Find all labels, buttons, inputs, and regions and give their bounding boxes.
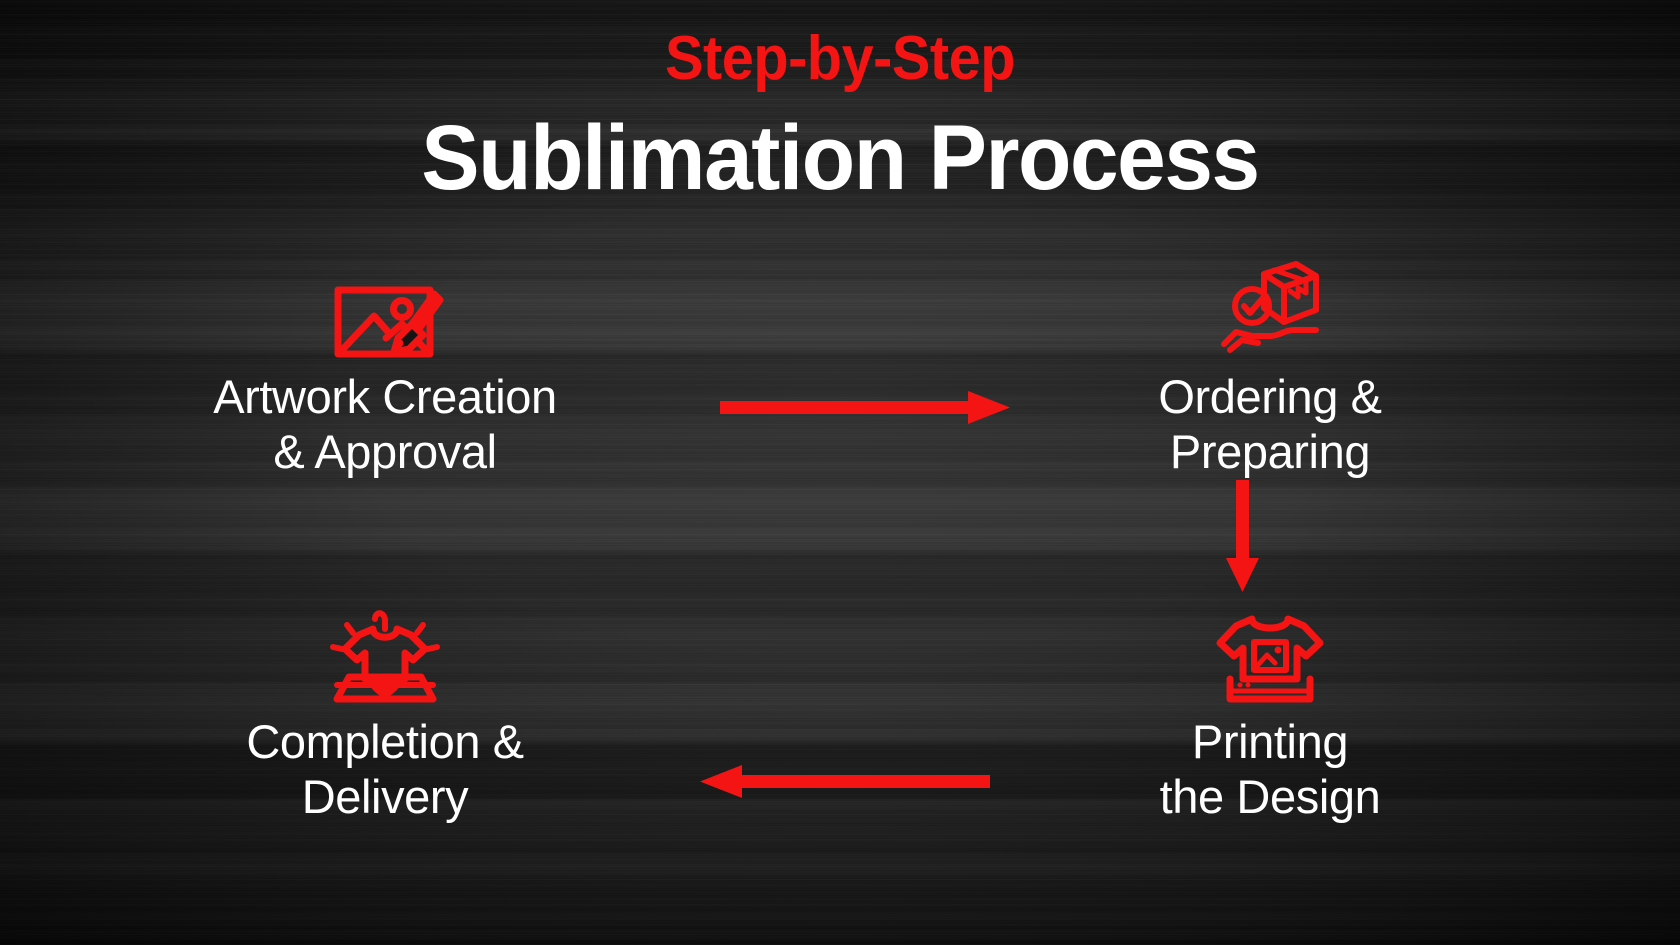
- step-artwork-creation: Artwork Creation & Approval: [125, 250, 645, 479]
- step-ordering-preparing: Ordering & Preparing: [1010, 250, 1530, 479]
- step-completion-delivery: Completion & Delivery: [125, 595, 645, 824]
- step-label: Ordering & Preparing: [1010, 370, 1530, 479]
- arrow-right-to-left: [700, 752, 990, 817]
- infographic-canvas: Step-by-Step Sublimation Process Artwork…: [0, 0, 1680, 945]
- step-printing-design: Printing the Design: [1010, 595, 1530, 824]
- step-label: Completion & Delivery: [125, 715, 645, 824]
- eyebrow-heading: Step-by-Step: [59, 28, 1621, 90]
- page-title: Sublimation Process: [42, 112, 1638, 206]
- tshirt-printer-icon: [1010, 595, 1530, 705]
- step-label: Artwork Creation & Approval: [125, 370, 645, 479]
- package-check-on-hand-icon: [1010, 250, 1530, 360]
- arrow-left-to-right: [720, 378, 1010, 443]
- image-with-pen-icon: [125, 250, 645, 360]
- step-label: Printing the Design: [1010, 715, 1530, 824]
- tshirt-in-gift-box-icon: [125, 595, 645, 705]
- arrow-top-to-bottom: [1213, 480, 1273, 597]
